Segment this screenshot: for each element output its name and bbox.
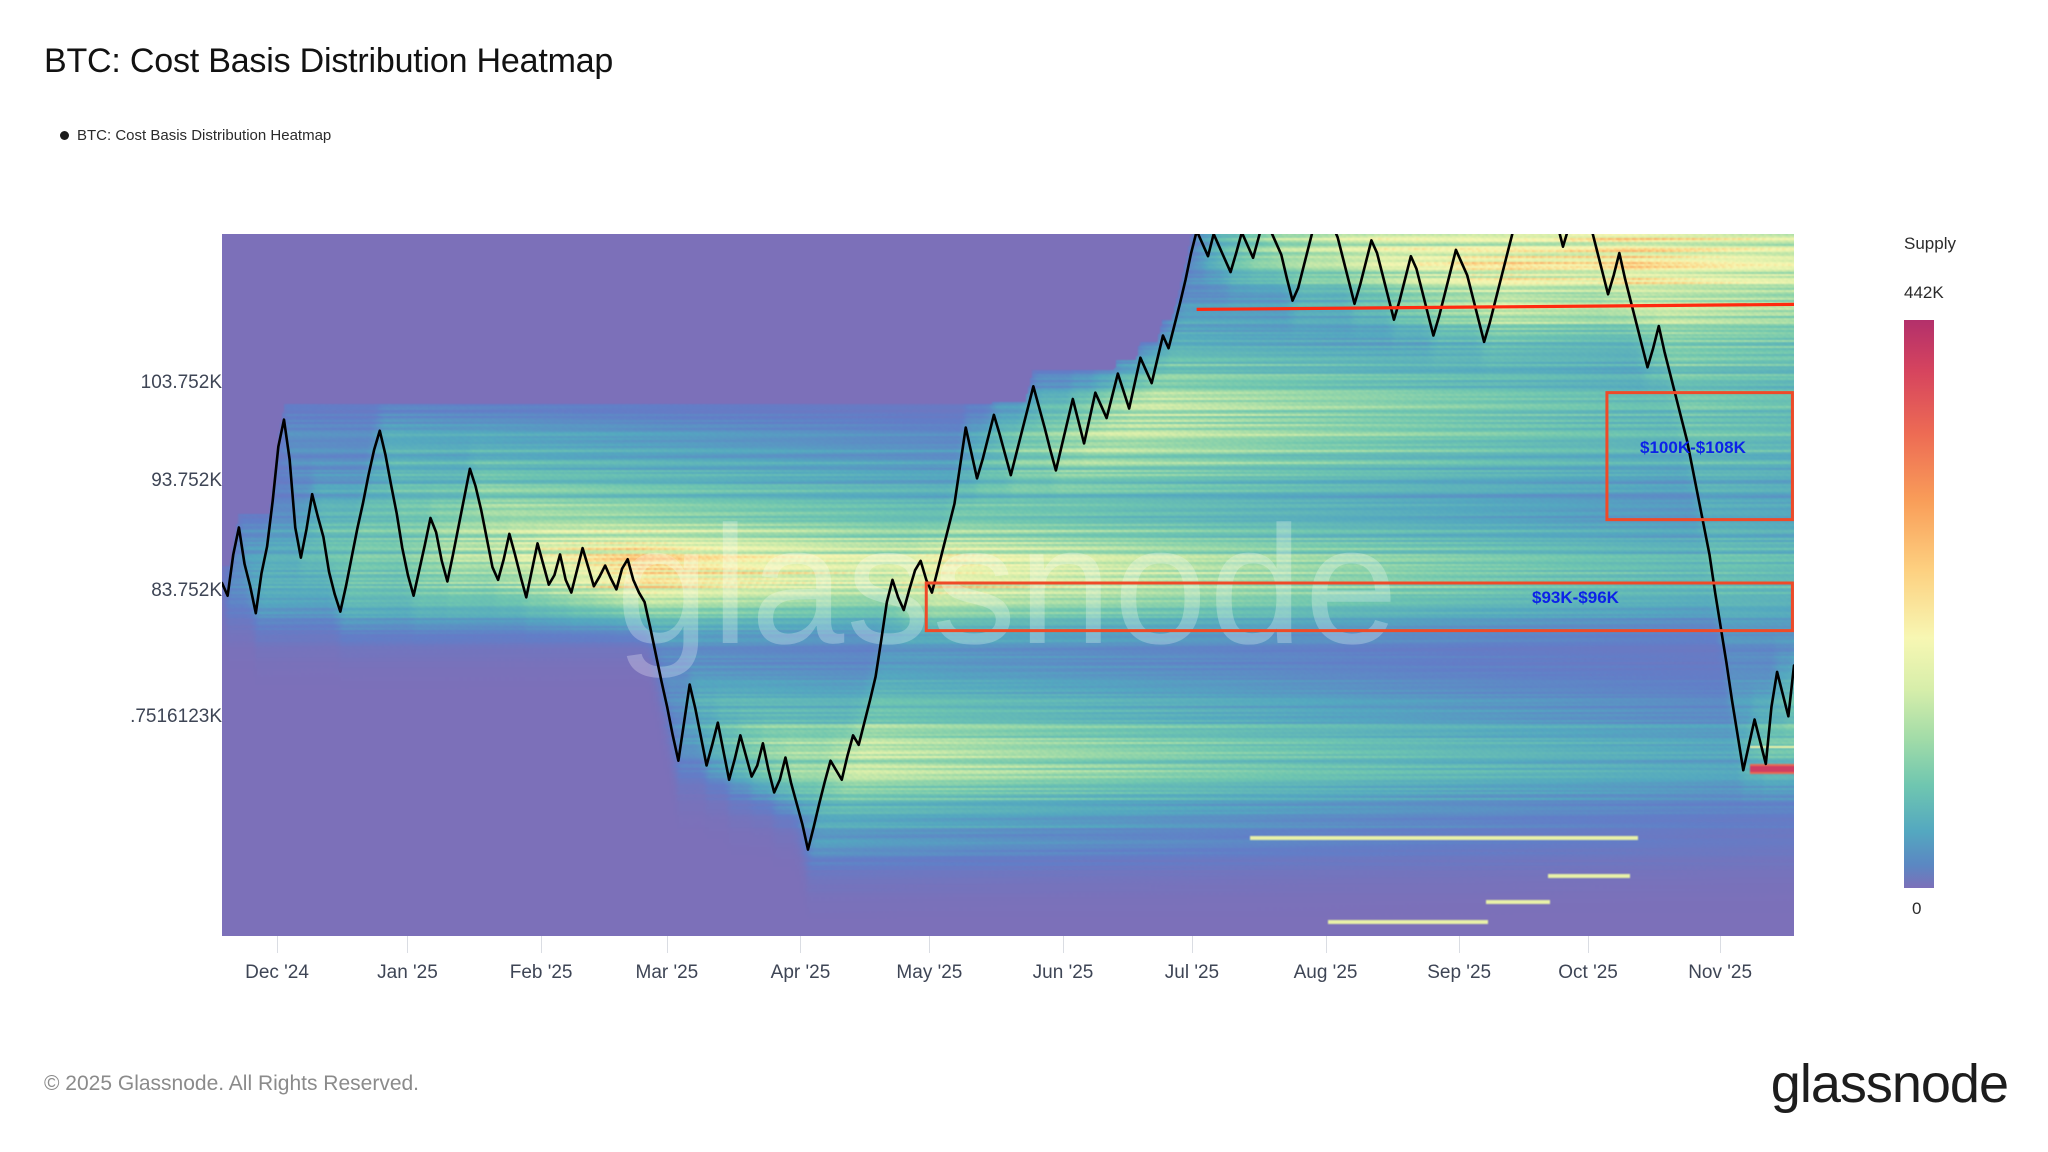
- annotation-label-93k-96k: $93K-$96K: [1532, 588, 1619, 608]
- x-axis-tick-mark: [407, 936, 408, 953]
- colorbar: Supply 442K 0: [1890, 234, 2048, 964]
- y-axis-tick-3: .7516123K: [0, 706, 222, 728]
- x-axis: Dec '24Jan '25Feb '25Mar '25Apr '25May '…: [222, 936, 1794, 1006]
- y-axis-tick-1: 93.752K: [0, 470, 222, 492]
- x-axis-tick-7: Jul '25: [1165, 962, 1219, 984]
- x-axis-tick-mark: [667, 936, 668, 953]
- annotation-layer: [222, 234, 1794, 936]
- x-axis-tick-mark: [1063, 936, 1064, 953]
- resistance-line: [1197, 304, 1794, 309]
- x-axis-tick-mark: [1588, 936, 1589, 953]
- x-axis-tick-6: Jun '25: [1033, 962, 1094, 984]
- x-axis-tick-9: Sep '25: [1427, 962, 1491, 984]
- colorbar-gradient: [1904, 320, 1934, 888]
- legend-dot-marker-icon: [60, 131, 69, 140]
- annotation-label-100k-108k: $100K-$108K: [1640, 438, 1746, 458]
- x-axis-tick-5: May '25: [896, 962, 962, 984]
- x-axis-tick-mark: [1459, 936, 1460, 953]
- x-axis-tick-10: Oct '25: [1558, 962, 1618, 984]
- x-axis-tick-mark: [277, 936, 278, 953]
- chart-page: BTC: Cost Basis Distribution Heatmap BTC…: [0, 0, 2048, 1152]
- colorbar-max-label: 442K: [1904, 283, 1944, 303]
- x-axis-tick-8: Aug '25: [1294, 962, 1358, 984]
- heatmap-plot-area[interactable]: glassnode: [222, 234, 1794, 936]
- x-axis-tick-mark: [541, 936, 542, 953]
- colorbar-min-label: 0: [1912, 899, 1921, 919]
- x-axis-tick-mark: [800, 936, 801, 953]
- y-axis: 103.752K 93.752K 83.752K .7516123K: [0, 234, 222, 936]
- y-axis-tick-0: 103.752K: [0, 372, 222, 394]
- x-axis-tick-mark: [1326, 936, 1327, 953]
- legend-item-label: BTC: Cost Basis Distribution Heatmap: [77, 127, 331, 144]
- x-axis-tick-11: Nov '25: [1688, 962, 1752, 984]
- colorbar-title: Supply: [1904, 234, 1956, 254]
- footer-copyright: © 2025 Glassnode. All Rights Reserved.: [44, 1072, 419, 1096]
- x-axis-tick-mark: [1192, 936, 1193, 953]
- x-axis-tick-2: Feb '25: [510, 962, 573, 984]
- x-axis-tick-mark: [1720, 936, 1721, 953]
- x-axis-tick-1: Jan '25: [377, 962, 438, 984]
- x-axis-tick-0: Dec '24: [245, 962, 309, 984]
- glassnode-logo: glassnode: [1771, 1053, 2008, 1115]
- supply-cluster-box-lower: [926, 583, 1792, 631]
- chart-legend[interactable]: BTC: Cost Basis Distribution Heatmap: [60, 127, 331, 144]
- x-axis-tick-mark: [929, 936, 930, 953]
- x-axis-tick-4: Apr '25: [771, 962, 831, 984]
- page-title: BTC: Cost Basis Distribution Heatmap: [44, 42, 613, 81]
- x-axis-tick-3: Mar '25: [635, 962, 698, 984]
- y-axis-tick-2: 83.752K: [0, 580, 222, 602]
